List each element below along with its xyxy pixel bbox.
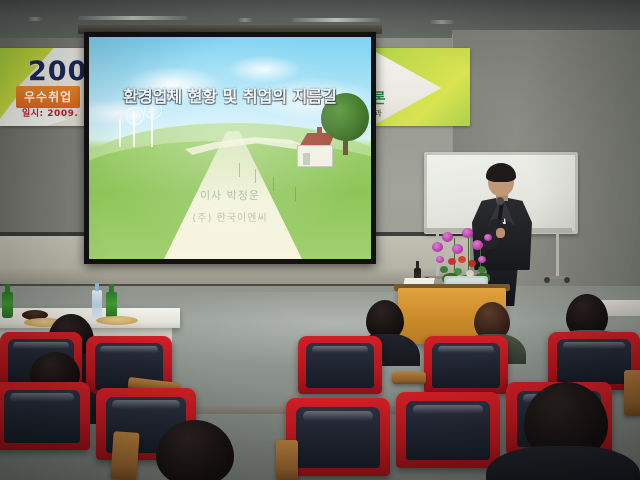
slide-title-bar: 환경업체 현황 및 취업의 지름길 <box>89 81 371 109</box>
auditorium-seat <box>0 382 90 450</box>
green-bottle <box>106 292 117 318</box>
ceiling-light-fixture <box>78 16 188 20</box>
flower-bloom <box>440 266 448 273</box>
seat-cushion <box>406 401 489 460</box>
projection-screen: 환경업체 현황 및 취업의 지름길 이사 박정운 (주) 한국이엔씨 <box>84 32 376 264</box>
seat-armrest <box>624 370 640 416</box>
seat-armrest <box>276 440 298 480</box>
microphone-head-icon <box>496 197 504 205</box>
auditorium-seat <box>424 336 508 394</box>
seat-cushion <box>557 339 631 384</box>
ceiling-light-fixture <box>430 20 454 24</box>
auditorium-seat <box>298 336 382 394</box>
water-bottle <box>92 290 102 318</box>
seat-cushion <box>4 390 81 443</box>
flower-bloom <box>478 266 486 273</box>
whiteboard-caster <box>544 277 550 283</box>
flower-bloom <box>458 256 466 263</box>
orchid-bloom <box>462 228 473 238</box>
whiteboard-leg <box>556 232 559 278</box>
presentation-slide: 환경업체 현황 및 취업의 지름길 이사 박정운 (주) 한국이엔씨 <box>89 37 371 259</box>
slide-presenter-line: 이사 박정운 <box>89 187 371 203</box>
speaker-hair <box>486 163 516 182</box>
ceiling-light-fixture <box>28 17 42 21</box>
cottage-door <box>303 153 310 165</box>
banner-badge: 우수취업 <box>16 86 80 108</box>
flower-bloom <box>448 258 456 265</box>
banner-year: 200 <box>28 56 87 87</box>
ceiling-light-fixture <box>238 18 252 22</box>
orchid-bloom <box>432 242 443 252</box>
orchid-bloom <box>442 232 453 242</box>
seat-cushion <box>306 343 373 388</box>
flower-bloom <box>454 268 462 275</box>
orchid-bloom <box>452 244 463 254</box>
seat-cushion <box>296 407 379 468</box>
slide-fencepost <box>239 163 240 177</box>
wind-turbine-icon <box>119 119 121 147</box>
orchid-bloom <box>484 234 492 241</box>
orchid-bloom <box>472 240 483 250</box>
ceiling-light-fixture <box>292 18 380 22</box>
slide-fencepost <box>255 169 256 183</box>
green-bottle <box>2 292 13 318</box>
slide-company-line: (주) 한국이엔씨 <box>89 209 371 224</box>
seat-armrest <box>392 372 426 384</box>
wind-turbine-rotor-icon <box>126 107 144 125</box>
auditorium-seat <box>286 398 390 476</box>
flower-bloom <box>468 260 476 267</box>
auditorium-seat <box>396 392 500 468</box>
seat-cushion <box>432 343 499 388</box>
whiteboard-caster <box>564 277 570 283</box>
slide-title: 환경업체 현황 및 취업의 지름길 <box>123 83 337 107</box>
lecture-hall-photo: 200 우수취업 일시: 2009. 수회 강전학토론 학교 환경공학과 <box>0 0 640 480</box>
banner-date: 일시: 2009. <box>22 106 78 119</box>
snack-plate <box>96 316 138 325</box>
seat-armrest <box>110 431 139 480</box>
